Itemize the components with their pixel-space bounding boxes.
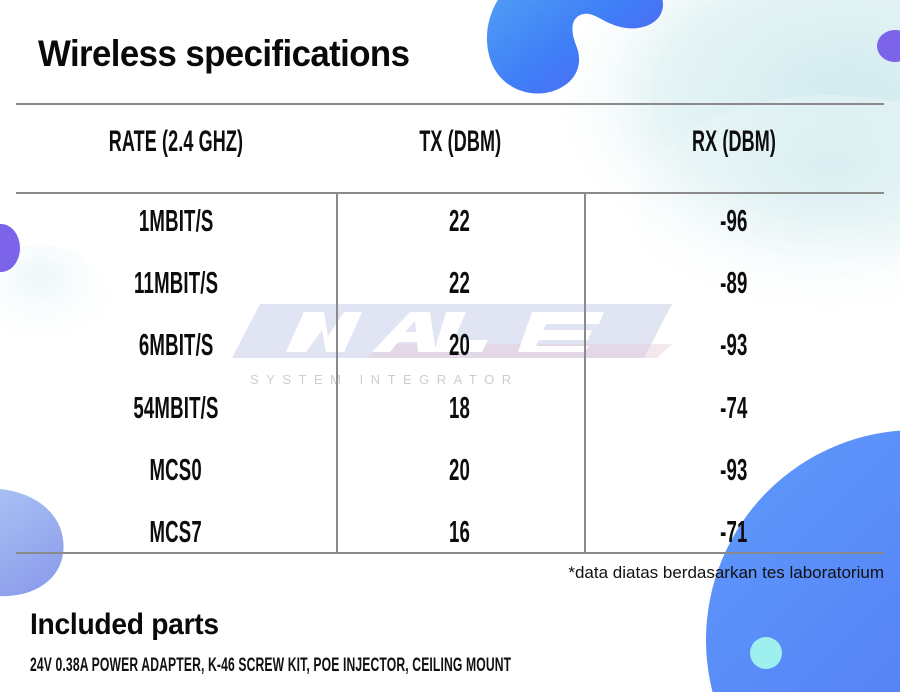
cell-tx: 16 <box>449 514 470 550</box>
table-header-rate-label: RATE (2.4 GHZ) <box>109 125 243 159</box>
table-row: -71 <box>584 514 884 550</box>
table-row: 54MBIT/S <box>16 390 336 426</box>
table-row: -89 <box>584 265 884 301</box>
table-header-tx-label: TX (DBM) <box>419 125 501 159</box>
table-row: -74 <box>584 390 884 426</box>
cell-rx: -74 <box>720 390 747 426</box>
table-row: MCS0 <box>16 452 336 488</box>
cell-tx: 22 <box>449 203 470 239</box>
table-row: -96 <box>584 203 884 239</box>
table-column-divider-1 <box>336 192 338 553</box>
cell-tx: 18 <box>449 390 470 426</box>
included-parts-title: Included parts <box>30 608 219 642</box>
table-row: 18 <box>336 390 584 426</box>
cell-rx: -93 <box>720 452 747 488</box>
table-column-divider-2 <box>584 192 586 553</box>
cell-rx: -89 <box>720 265 747 301</box>
cell-tx: 22 <box>449 265 470 301</box>
table-row: 20 <box>336 452 584 488</box>
table-row: MCS7 <box>16 514 336 550</box>
cell-rx: -71 <box>720 514 747 550</box>
cell-rate: MCS0 <box>150 452 202 488</box>
cell-rx: -93 <box>720 327 747 363</box>
table-row: 11MBIT/S <box>16 265 336 301</box>
table-row: 22 <box>336 265 584 301</box>
cell-rx: -96 <box>720 203 747 239</box>
table-header-tx: TX (DBM) <box>336 125 584 159</box>
cell-tx: 20 <box>449 327 470 363</box>
table-header-rule <box>16 192 884 194</box>
table-footnote: *data diatas berdasarkan tes laboratoriu… <box>568 563 884 583</box>
page-title: Wireless specifications <box>38 33 409 75</box>
table-row: 1MBIT/S <box>16 203 336 239</box>
cell-rate: 11MBIT/S <box>134 265 218 301</box>
table-row: -93 <box>584 452 884 488</box>
cell-rate: MCS7 <box>150 514 202 550</box>
table-row: 22 <box>336 203 584 239</box>
table-row: 6MBIT/S <box>16 327 336 363</box>
table-top-rule <box>16 103 884 105</box>
included-parts-list: 24V 0.38A POWER ADAPTER, K-46 SCREW KIT,… <box>30 655 511 677</box>
cell-rate: 54MBIT/S <box>133 390 218 426</box>
table-row: -93 <box>584 327 884 363</box>
content-root: Wireless specifications RATE (2.4 GHZ) T… <box>0 0 900 692</box>
table-row: 20 <box>336 327 584 363</box>
cell-rate: 1MBIT/S <box>139 203 214 239</box>
table-header-rate: RATE (2.4 GHZ) <box>16 125 336 159</box>
table-header-rx: RX (DBM) <box>584 125 884 159</box>
table-row: 16 <box>336 514 584 550</box>
table-bottom-rule <box>16 552 884 554</box>
cell-rate: 6MBIT/S <box>139 327 214 363</box>
table-header-rx-label: RX (DBM) <box>692 125 776 159</box>
cell-tx: 20 <box>449 452 470 488</box>
